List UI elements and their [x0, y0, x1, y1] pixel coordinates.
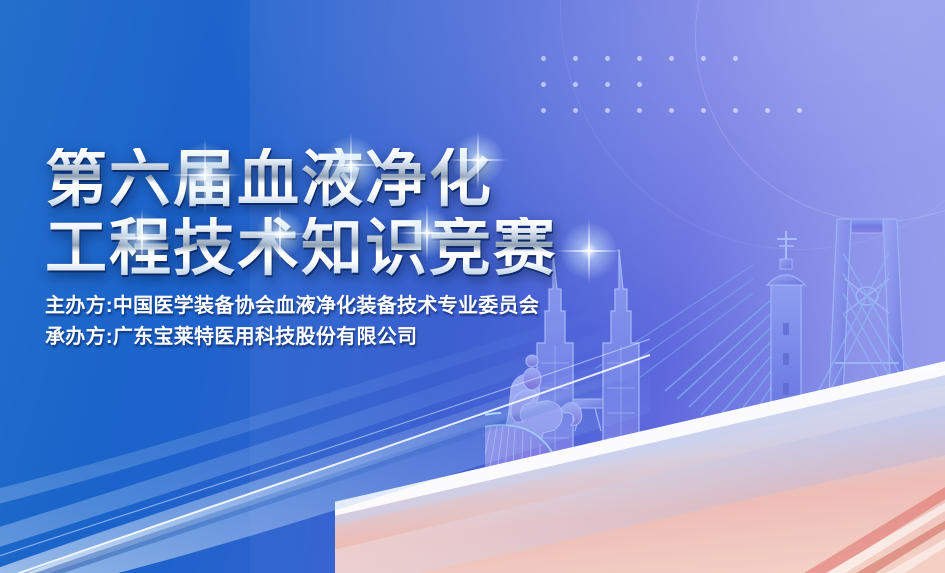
organizer-line: 主办方:中国医学装备协会血液净化装备技术专业委员会 [45, 292, 665, 320]
co-organizer-line: 承办方:广东宝莱特医用科技股份有限公司 [45, 323, 665, 351]
page-title-line-2: 工程技术知识竞赛 [45, 217, 665, 280]
page-title-line-1: 第六届血液净化 [45, 148, 665, 211]
poster-text-block: 第六届血液净化 工程技术知识竞赛 主办方:中国医学装备协会血液净化装备技术专业委… [45, 148, 665, 351]
large-circle-outline-icon [695, 0, 945, 222]
event-poster: 第六届血液净化 工程技术知识竞赛 主办方:中国医学装备协会血液净化装备技术专业委… [0, 0, 945, 573]
